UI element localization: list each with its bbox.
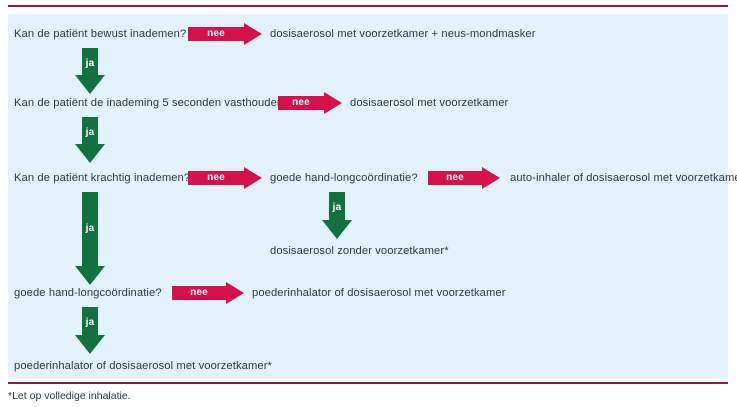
node-outcome-dosisaerosol-zonder-voorzetkamer: dosisaerosol zonder voorzetkamer* — [270, 244, 449, 258]
arrow-head — [482, 167, 500, 189]
arrow-head — [244, 23, 262, 45]
arrow-head — [226, 282, 244, 304]
arrow-head — [244, 167, 262, 189]
node-outcome-dosisaerosol-met-voorzetkamer: dosisaerosol met voorzetkamer — [350, 96, 508, 110]
arrow-label-ja: ja — [75, 223, 105, 234]
node-outcome-auto-inhaler: auto-inhaler of dosisaerosol met voorzet… — [510, 171, 737, 185]
footnote-text: *Let op volledige inhalatie. — [8, 390, 131, 402]
arrow-no-q4-to-outcome3: nee — [428, 167, 500, 189]
arrow-head — [322, 220, 352, 239]
arrow-head — [75, 144, 105, 163]
arrow-head — [75, 266, 105, 285]
node-outcome-dosisaerosol-voorzetkamer-neusmondmasker: dosisaerosol met voorzetkamer + neus-mon… — [270, 27, 536, 41]
arrow-label-ja: ja — [75, 127, 105, 138]
flowchart-panel — [8, 14, 728, 378]
node-question-hand-longcoordinatie-links: goede hand-longcoördinatie? — [14, 286, 162, 300]
arrow-label-ja: ja — [322, 202, 352, 213]
arrow-no-q2-to-outcome2: nee — [278, 92, 340, 114]
arrow-no-q5-to-outcome5: nee — [172, 282, 244, 304]
node-question-krachtig-inademen: Kan de patiënt krachtig inademen? — [14, 171, 190, 185]
arrow-yes-q1-to-q2: ja — [75, 48, 105, 94]
node-outcome-poederinhalator-met-voorzetkamer: poederinhalator of dosisaerosol met voor… — [252, 286, 506, 300]
arrow-label-nee: nee — [428, 171, 482, 185]
arrow-head — [75, 335, 105, 354]
arrow-no-q3-to-q4: nee — [188, 167, 262, 189]
arrow-no-q1-to-outcome1: nee — [188, 23, 262, 45]
node-question-bewust-inademen: Kan de patiënt bewust inademen? — [14, 27, 186, 41]
node-outcome-poederinhalator-met-voorzetkamer-ster: poederinhalator of dosisaerosol met voor… — [14, 359, 272, 373]
arrow-yes-q2-to-q3: ja — [75, 117, 105, 163]
arrow-label-nee: nee — [188, 27, 244, 41]
arrow-yes-q4-to-outcome4: ja — [322, 192, 352, 240]
arrow-label-ja: ja — [75, 317, 105, 328]
bottom-divider-rule — [8, 382, 728, 384]
arrow-label-nee: nee — [278, 96, 324, 110]
arrow-yes-q3-to-q5: ja — [75, 192, 105, 286]
arrow-label-ja: ja — [75, 58, 105, 69]
node-question-inademing-5-seconden: Kan de patiënt de inademing 5 seconden v… — [14, 96, 290, 110]
arrow-head — [324, 92, 342, 114]
arrow-label-nee: nee — [188, 171, 244, 185]
node-question-hand-longcoordinatie-midden: goede hand-longcoördinatie? — [270, 171, 418, 185]
arrow-label-nee: nee — [172, 286, 226, 300]
arrow-yes-q5-to-outcome6: ja — [75, 307, 105, 355]
flowchart-page: Kan de patiënt bewust inademen? nee dosi… — [0, 0, 737, 407]
top-divider-rule — [8, 5, 728, 7]
arrow-head — [75, 75, 105, 94]
